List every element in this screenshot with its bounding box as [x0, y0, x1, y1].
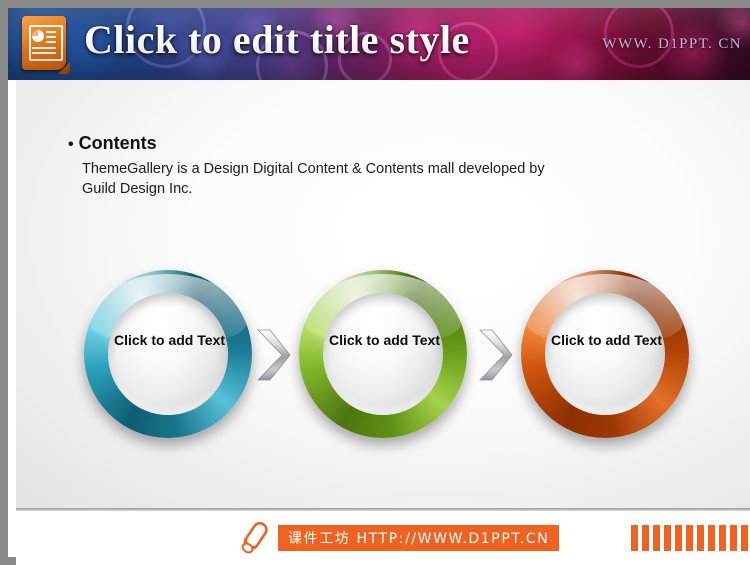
icon-line	[46, 41, 56, 43]
node-inner-disc	[323, 293, 443, 415]
tick	[741, 525, 748, 551]
tick	[686, 525, 693, 551]
icon-line	[32, 47, 56, 49]
diagram-node-1[interactable]: Click to add Text	[84, 270, 252, 438]
tick	[719, 525, 726, 551]
icon-line	[46, 36, 56, 38]
footer-url-bar[interactable]: 课件工坊 HTTP://WWW.D1PPT.CN	[278, 525, 559, 551]
tick	[664, 525, 671, 551]
chevron-right-arrow	[478, 328, 514, 382]
contents-heading: •Contents	[68, 134, 588, 154]
slide-frame: Click to edit title style WWW. D1PPT. CN…	[0, 0, 750, 565]
powerpoint-document-icon	[18, 14, 70, 74]
icon-pie-chart	[32, 30, 44, 42]
node-inner-disc	[545, 293, 665, 415]
tick	[653, 525, 660, 551]
contents-text-block[interactable]: •Contents ThemeGallery is a Design Digit…	[68, 134, 588, 200]
slide-canvas: Click to edit title style WWW. D1PPT. CN…	[0, 0, 750, 565]
diagram-node-2[interactable]: Click to add Text	[299, 270, 467, 438]
slide-header: Click to edit title style WWW. D1PPT. CN	[8, 8, 750, 80]
footer-tick-marks	[631, 525, 750, 551]
footer-url-label: 课件工坊 HTTP://WWW.D1PPT.CN	[288, 528, 549, 548]
tick	[697, 525, 704, 551]
node-label[interactable]: Click to add Text	[329, 332, 441, 350]
slide-body: •Contents ThemeGallery is a Design Digit…	[16, 80, 750, 508]
bullet-icon: •	[68, 136, 74, 153]
tick	[730, 525, 737, 551]
diagram-node-3[interactable]: Click to add Text	[521, 270, 689, 438]
tick	[642, 525, 649, 551]
footer-divider	[16, 508, 750, 511]
node-label[interactable]: Click to add Text	[551, 332, 663, 350]
tick	[708, 525, 715, 551]
bokeh-circle	[548, 36, 606, 80]
tick	[631, 525, 638, 551]
icon-line	[46, 31, 56, 33]
slide-title[interactable]: Click to edit title style	[84, 16, 470, 63]
chevron-right-arrow	[256, 328, 292, 382]
node-label[interactable]: Click to add Text	[114, 332, 226, 350]
node-inner-disc	[108, 293, 228, 415]
header-url-watermark: WWW. D1PPT. CN	[602, 36, 742, 53]
tick	[675, 525, 682, 551]
pencil-icon	[235, 519, 271, 559]
contents-heading-label: Contents	[79, 133, 157, 153]
icon-line	[32, 52, 56, 54]
contents-paragraph: ThemeGallery is a Design Digital Content…	[82, 159, 552, 200]
bokeh-circle	[478, 8, 556, 68]
